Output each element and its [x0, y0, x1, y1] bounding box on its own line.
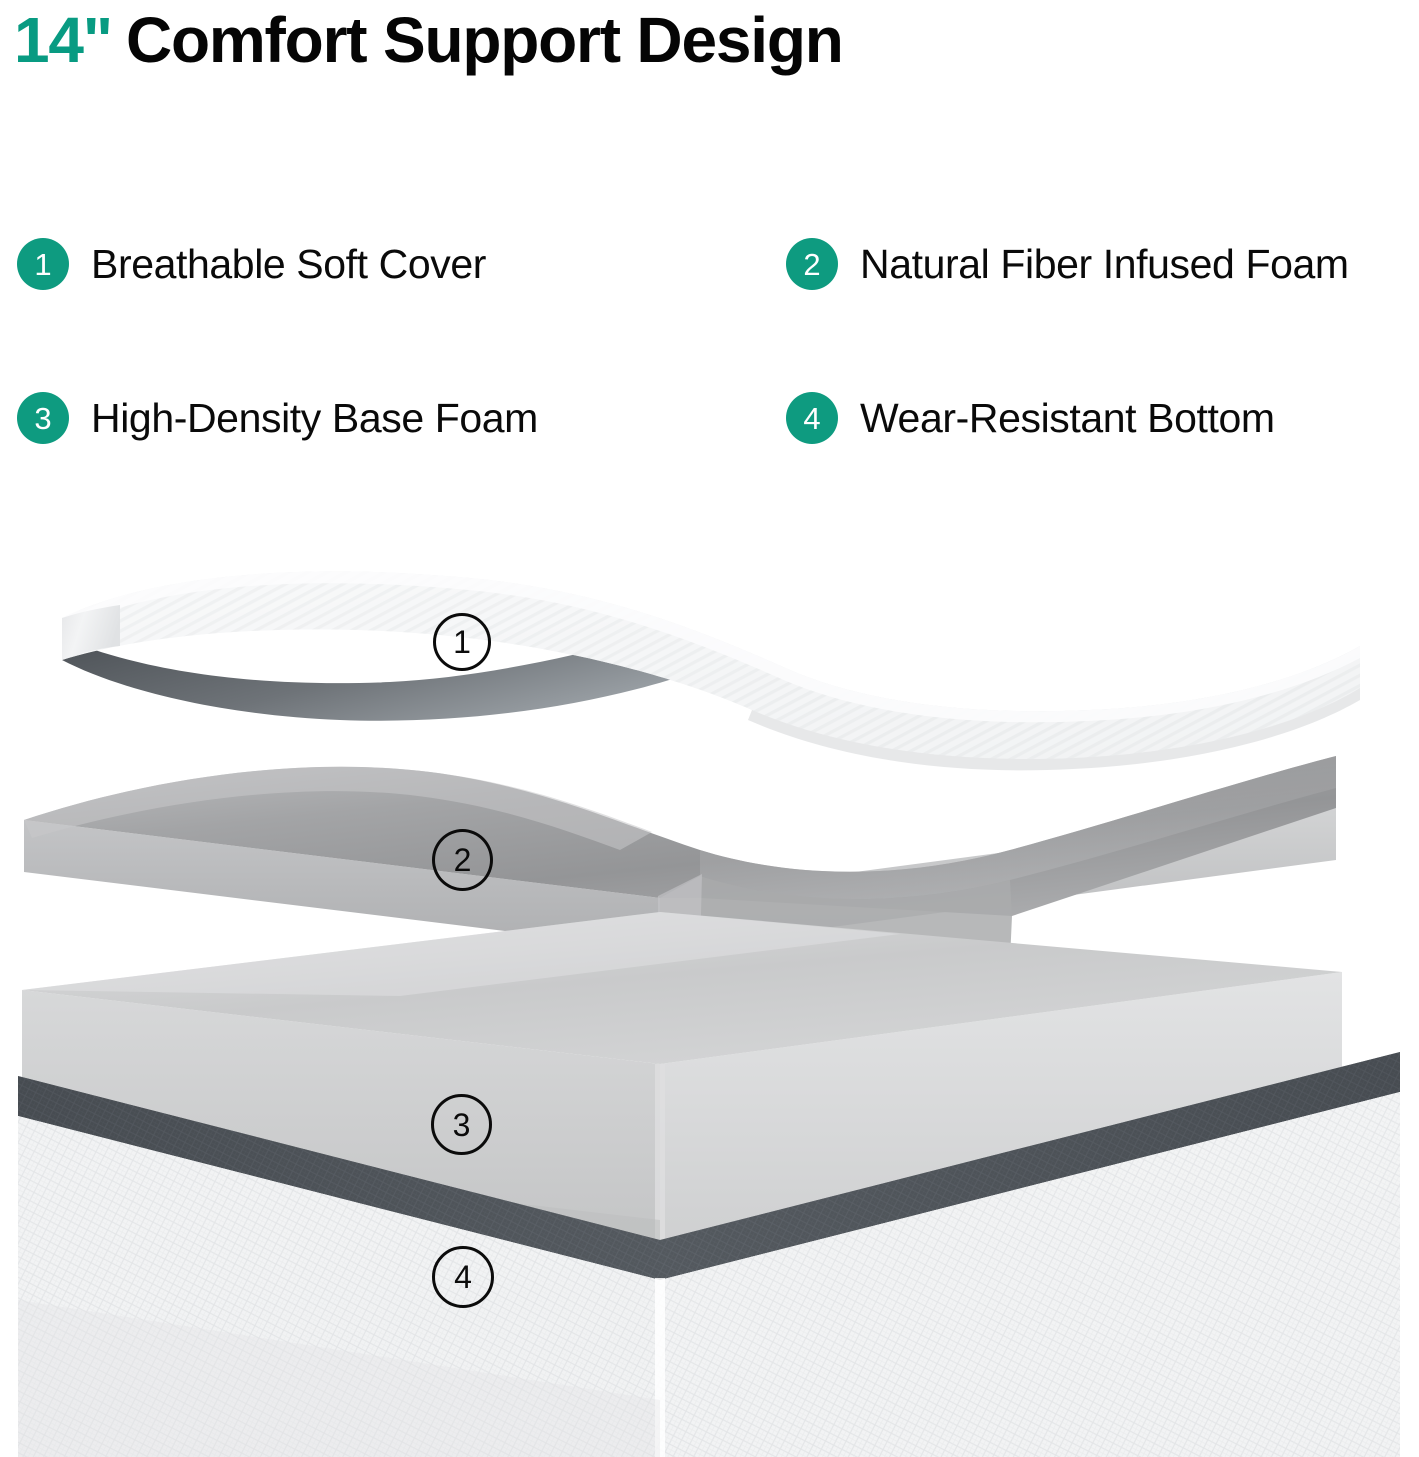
legend-badge-4-icon: 4: [786, 392, 838, 444]
mattress-layers-illustration: [0, 520, 1419, 1457]
title-measurement: 14": [14, 2, 112, 78]
diagram-marker-4: 4: [432, 1246, 494, 1308]
page-title: 14"Comfort Support Design: [14, 2, 1404, 82]
legend-label-4: Wear-Resistant Bottom: [860, 392, 1275, 444]
foam3-corner-edge: [655, 1064, 665, 1242]
legend-badge-2-icon: 2: [786, 238, 838, 290]
layer-1-soft-cover: [62, 571, 1360, 770]
feature-legend: 1 Breathable Soft Cover 2 Natural Fiber …: [0, 228, 1419, 478]
title-main-text: Comfort Support Design: [126, 2, 843, 78]
legend-label-1: Breathable Soft Cover: [91, 238, 486, 290]
legend-item-1: 1 Breathable Soft Cover: [17, 236, 486, 292]
legend-label-2: Natural Fiber Infused Foam: [860, 238, 1349, 290]
cover-knit-texture: [62, 571, 1360, 759]
legend-item-3: 3 High-Density Base Foam: [17, 390, 538, 446]
diagram-marker-2: 2: [432, 829, 493, 891]
diagram-marker-1: 1: [433, 613, 491, 671]
legend-item-4: 4 Wear-Resistant Bottom: [786, 390, 1275, 446]
legend-badge-1-icon: 1: [17, 238, 69, 290]
diagram-marker-3: 3: [431, 1094, 492, 1155]
mattress-layer-diagram: [0, 520, 1419, 1457]
legend-item-2: 2 Natural Fiber Infused Foam: [786, 236, 1349, 292]
legend-badge-3-icon: 3: [17, 392, 69, 444]
legend-label-3: High-Density Base Foam: [91, 392, 538, 444]
